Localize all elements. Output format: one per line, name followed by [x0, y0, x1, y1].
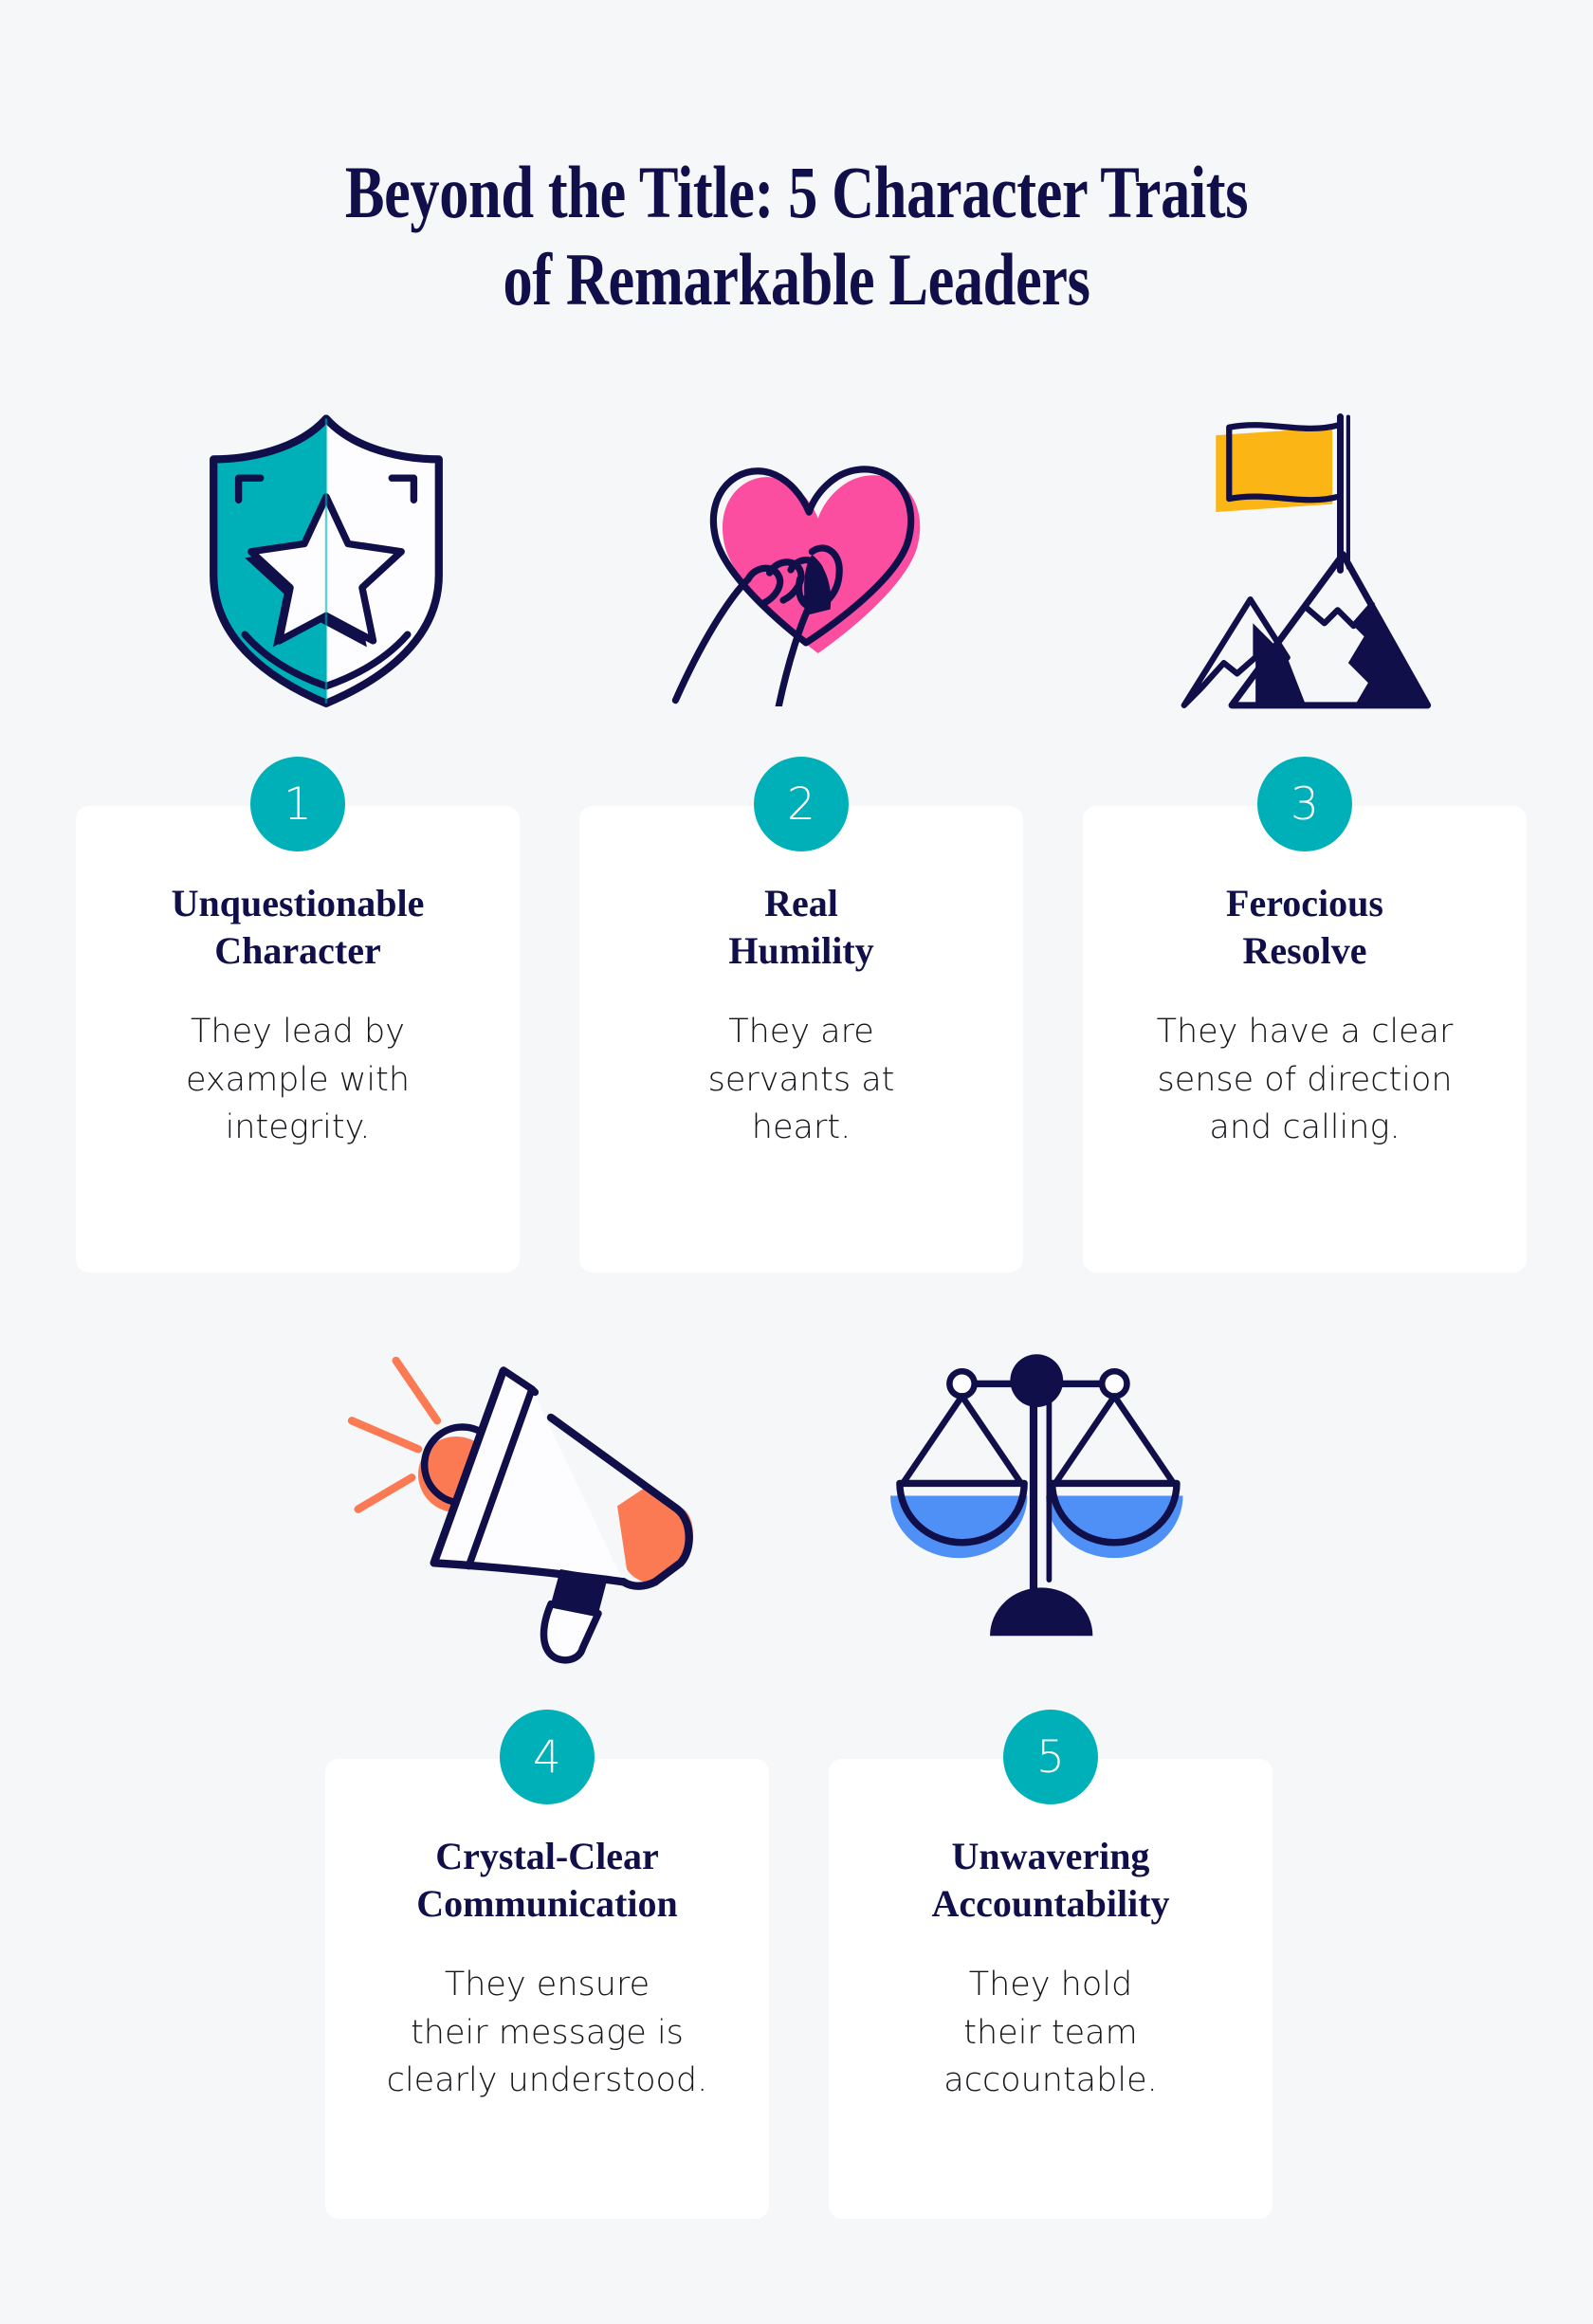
trait-card-2[interactable]: Real Humility They are servants at heart…: [579, 806, 1023, 1272]
trait-card-title: Ferocious Resolve: [1115, 880, 1494, 976]
megaphone-icon: [341, 1332, 713, 1664]
trait-card-body: They lead by example with integrity.: [108, 1008, 487, 1152]
trait-number-badge-1: 1: [250, 757, 345, 851]
trait-card-title: Real Humility: [612, 880, 991, 976]
trait-card-title: Unquestionable Character: [108, 880, 487, 976]
trait-card-5[interactable]: Unwavering Accountability They hold thei…: [829, 1759, 1273, 2219]
trait-number-badge-4: 4: [500, 1710, 595, 1804]
flag-on-mountain-icon: [1176, 398, 1441, 716]
trait-card-body: They hold their team accountable.: [861, 1961, 1240, 2105]
trait-card-4[interactable]: Crystal-Clear Communication They ensure …: [325, 1759, 769, 2219]
trait-card-body: They are servants at heart.: [612, 1008, 991, 1152]
trait-card-body: They have a clear sense of direction and…: [1115, 1008, 1494, 1152]
trait-card-3[interactable]: Ferocious Resolve They have a clear sens…: [1083, 806, 1527, 1272]
hand-holding-heart-icon: [654, 403, 958, 706]
trait-card-title: Crystal-Clear Communication: [357, 1833, 737, 1929]
trait-number-badge-2: 2: [754, 757, 849, 851]
infographic-page: Beyond the Title: 5 Character Traits of …: [0, 0, 1593, 2324]
trait-card-body: They ensure their message is clearly und…: [357, 1961, 737, 2105]
trait-number-badge-5: 5: [1003, 1710, 1098, 1804]
balance-scales-icon: [877, 1346, 1190, 1650]
trait-card-title: Unwavering Accountability: [861, 1833, 1240, 1929]
trait-card-1[interactable]: Unquestionable Character They lead by ex…: [76, 806, 520, 1272]
shield-star-icon: [167, 403, 485, 716]
page-title: Beyond the Title: 5 Character Traits of …: [159, 149, 1434, 323]
trait-number-badge-3: 3: [1257, 757, 1352, 851]
